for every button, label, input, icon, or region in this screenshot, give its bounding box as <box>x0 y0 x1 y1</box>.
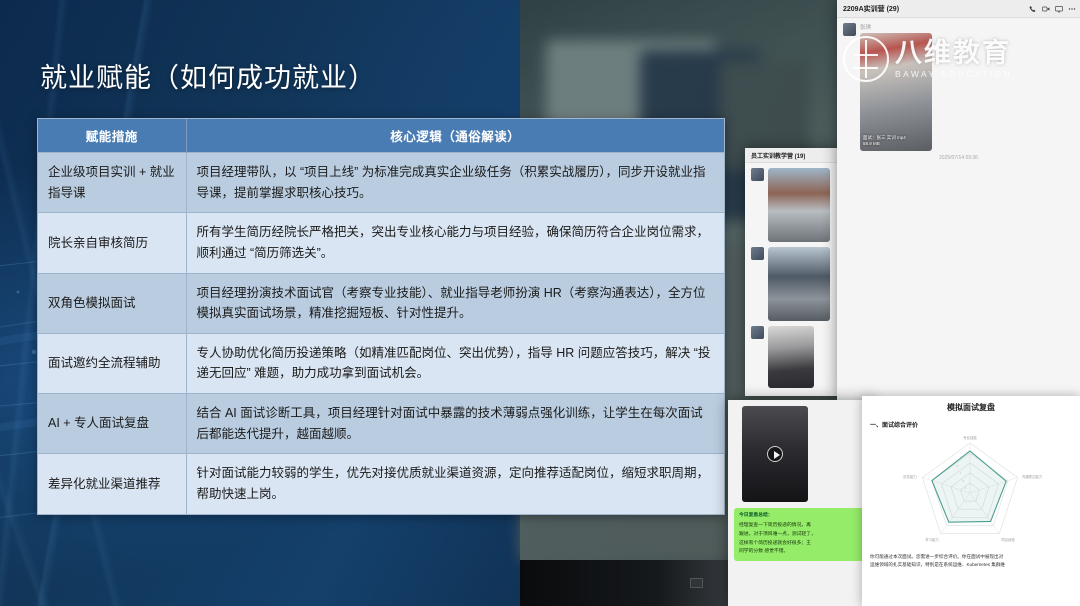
table-row: 院长亲自审核简历 所有学生简历经院长严格把关，突出专业核心能力与项目经验，确保简… <box>38 213 724 273</box>
slide-dark-strip <box>520 560 748 606</box>
cell-measure: 差异化就业渠道推荐 <box>38 454 186 514</box>
message-timestamp: 2025/07/14 09:36 <box>837 151 1080 165</box>
photo-message[interactable] <box>768 326 814 388</box>
radar-axis-label: 项目经验 <box>1001 537 1015 542</box>
photo-message[interactable]: 面试：张三 实训 mp4 58.9 MB <box>860 33 932 151</box>
cell-logic: 专人协助优化简历投递策略（如精准匹配岗位、突出优势），指导 HR 问题应答技巧，… <box>186 333 724 393</box>
cell-measure: 双角色模拟面试 <box>38 273 186 333</box>
bubble-line: 经理复查一下简历投递的情况，再 <box>739 522 860 531</box>
empowerment-table: 赋能措施 核心逻辑（通俗解读） 企业级项目实训 + 就业指导课 项目经理带队，以… <box>37 118 725 515</box>
wechat-main-title: 2209A实训营 (29) <box>843 4 899 14</box>
cell-logic: 项目经理带队，以 “项目上线” 为标准完成真实企业级任务（积累实战履历），同步开… <box>186 153 724 213</box>
avatar <box>751 168 764 181</box>
cell-logic: 结合 AI 面试诊断工具，项目经理针对面试中暴露的技术薄弱点强化训练，让学生在每… <box>186 394 724 454</box>
photo-message[interactable] <box>768 247 830 321</box>
cell-measure: 企业级项目实训 + 就业指导课 <box>38 153 186 213</box>
play-icon[interactable] <box>767 446 783 462</box>
chat-bubble-outgoing[interactable]: 今日复盘总结： 经理复查一下简历投递的情况，再 跟进，对于项目难一点，测试轻了，… <box>734 508 865 561</box>
report-section-heading: 一、面试综合评价 <box>870 420 1072 429</box>
phone-icon[interactable] <box>1029 5 1037 13</box>
table-row: 差异化就业渠道推荐 针对面试能力较弱的学生，优先对接优质就业渠道资源，定向推荐适… <box>38 454 724 514</box>
bubble-line: 同学的分数 感觉不错。 <box>739 548 860 557</box>
table-row: 双角色模拟面试 项目经理扮演技术面试官（考察专业技能）、就业指导老师扮演 HR（… <box>38 273 724 333</box>
sender-label: 张琪 <box>860 23 932 31</box>
wechat-window-main[interactable]: 2209A实训营 (29) 张琪 <box>837 0 1080 400</box>
report-title: 模拟面试复盘 <box>870 402 1072 413</box>
radar-axis-label: 沟通表达能力 <box>1022 474 1043 479</box>
table-header-measure: 赋能措施 <box>38 119 186 153</box>
cell-logic: 针对面试能力较弱的学生，优先对接优质就业渠道资源，定向推荐适配岗位，缩短求职周期… <box>186 454 724 514</box>
radar-chart-svg: 专业技能 沟通表达能力 项目经验 学习能力 抗压能力 5 4 3 2 <box>870 431 1070 551</box>
report-footer-line: 运维领域的扎实基础知识，特别是在系统运维、Kubernetes 集群维 <box>870 561 1072 569</box>
video-icon[interactable] <box>1042 5 1050 13</box>
cell-measure: AI + 专人面试复盘 <box>38 394 186 454</box>
table-row: 面试邀约全流程辅助 专人协助优化简历投递策略（如精准匹配岗位、突出优势），指导 … <box>38 333 724 393</box>
photo-caption-line2: 58.9 MB <box>863 141 906 148</box>
slide-taskbar-icon <box>690 578 703 588</box>
cell-measure: 面试邀约全流程辅助 <box>38 333 186 393</box>
table-row: AI + 专人面试复盘 结合 AI 面试诊断工具，项目经理针对面试中暴露的技术薄… <box>38 394 724 454</box>
radar-axis-label: 抗压能力 <box>903 474 917 479</box>
table-header-logic: 核心逻辑（通俗解读） <box>186 119 724 153</box>
avatar <box>843 23 856 36</box>
cell-measure: 院长亲自审核简历 <box>38 213 186 273</box>
cell-logic: 所有学生简历经院长严格把关，突出专业核心能力与项目经验，确保简历符合企业岗位需求… <box>186 213 724 273</box>
radar-chart: 专业技能 沟通表达能力 项目经验 学习能力 抗压能力 5 4 3 2 <box>870 431 1072 551</box>
page-title: 就业赋能（如何成功就业） <box>40 56 376 95</box>
radar-axis-label: 专业技能 <box>963 435 977 440</box>
table-row: 企业级项目实训 + 就业指导课 项目经理带队，以 “项目上线” 为标准完成真实企… <box>38 153 724 213</box>
bubble-heading: 今日复盘总结： <box>739 512 860 521</box>
radar-axis-label: 学习能力 <box>925 537 939 542</box>
bubble-line: 跟进，对于项目难一点，测试轻了， <box>739 531 860 540</box>
wechat-main-titlebar[interactable]: 2209A实训营 (29) <box>837 0 1080 18</box>
screen-share-icon[interactable] <box>1055 5 1063 13</box>
photo-message[interactable] <box>768 168 830 242</box>
more-icon[interactable] <box>1068 5 1076 13</box>
wechat-main-toolbar[interactable] <box>1029 5 1076 13</box>
list-item[interactable]: 张琪 面试：张三 实训 mp4 58.9 MB <box>837 18 1080 151</box>
avatar <box>751 247 764 260</box>
wechat-secondary-title: 员工实训教学营 (19) <box>751 151 805 160</box>
screen-root: 就业赋能（如何成功就业） 赋能措施 核心逻辑（通俗解读） 企业级项目实训 + 就… <box>0 0 1080 606</box>
table-header-row: 赋能措施 核心逻辑（通俗解读） <box>38 119 724 153</box>
video-message[interactable] <box>742 406 808 502</box>
interview-report-panel[interactable]: 模拟面试复盘 一、面试综合评价 <box>862 396 1080 606</box>
wechat-main-body: 张琪 面试：张三 实训 mp4 58.9 MB 2025/07/14 09:36 <box>837 18 1080 400</box>
bubble-line: 这样有个简历投递就会好很多；王 <box>739 540 860 549</box>
report-footer-line: 你可能通过本次面试。您需进一步综合评价。你在面试中展现出对 <box>870 553 1072 561</box>
cell-logic: 项目经理扮演技术面试官（考察专业技能）、就业指导老师扮演 HR（考察沟通表达），… <box>186 273 724 333</box>
avatar <box>751 326 764 339</box>
wechat-window-tertiary[interactable]: 今日复盘总结： 经理复查一下简历投递的情况，再 跟进，对于项目难一点，测试轻了，… <box>728 400 873 606</box>
report-footer: 你可能通过本次面试。您需进一步综合评价。你在面试中展现出对 运维领域的扎实基础知… <box>870 553 1072 570</box>
